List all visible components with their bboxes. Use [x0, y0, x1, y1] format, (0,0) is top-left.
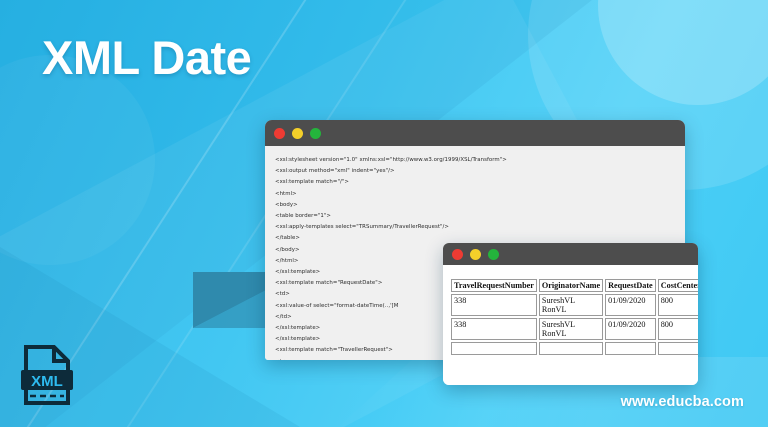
- table-header-row: TravelRequestNumberOriginatorNameRequest…: [451, 279, 698, 292]
- table-cell: SureshVLRonVL: [539, 294, 603, 316]
- xml-file-icon: XML: [18, 344, 76, 406]
- code-window-titlebar[interactable]: [265, 120, 685, 146]
- table-cell: 338: [451, 318, 537, 340]
- table-cell: 800: [658, 318, 698, 340]
- table-column-header: RequestDate: [605, 279, 656, 292]
- table-cell: 01/09/2020: [605, 318, 656, 340]
- code-line: <xsl:template match="/">: [275, 177, 685, 188]
- maximize-icon[interactable]: [488, 249, 499, 260]
- close-icon[interactable]: [274, 128, 285, 139]
- table-body-rows: 338SureshVLRonVL01/09/2020800338SureshVL…: [451, 294, 698, 355]
- table-cell: SureshVLRonVL: [539, 318, 603, 340]
- svg-text:XML: XML: [31, 373, 63, 390]
- page-title: XML Date: [42, 30, 251, 85]
- table-cell-empty: [605, 342, 656, 355]
- output-table-area: TravelRequestNumberOriginatorNameRequest…: [443, 265, 698, 385]
- results-table: TravelRequestNumberOriginatorNameRequest…: [449, 277, 698, 357]
- table-cell-line: SureshVL: [542, 320, 600, 329]
- site-url-label: www.educba.com: [621, 394, 744, 410]
- table-column-header: TravelRequestNumber: [451, 279, 537, 292]
- table-column-header: OriginatorName: [539, 279, 603, 292]
- table-cell-empty: [539, 342, 603, 355]
- minimize-icon[interactable]: [470, 249, 481, 260]
- table-header: TravelRequestNumberOriginatorNameRequest…: [451, 279, 698, 292]
- code-line: <xsl:output method="xml" indent="yes"/>: [275, 166, 685, 177]
- table-cell: 338: [451, 294, 537, 316]
- xslt-output-window[interactable]: TravelRequestNumberOriginatorNameRequest…: [443, 243, 698, 385]
- table-cell-empty: [451, 342, 537, 355]
- table-row-empty: [451, 342, 698, 355]
- code-line: <xsl:stylesheet version="1.0" xmlns:xsl=…: [275, 155, 685, 166]
- xml-file-icon-glyph: XML: [18, 344, 76, 406]
- table-cell-empty: [658, 342, 698, 355]
- table-cell: 01/09/2020: [605, 294, 656, 316]
- minimize-icon[interactable]: [292, 128, 303, 139]
- maximize-icon[interactable]: [310, 128, 321, 139]
- table-row: 338SureshVLRonVL01/09/2020800: [451, 294, 698, 316]
- table-cell: 800: [658, 294, 698, 316]
- close-icon[interactable]: [452, 249, 463, 260]
- table-row: 338SureshVLRonVL01/09/2020800: [451, 318, 698, 340]
- table-cell-line: RonVL: [542, 329, 600, 338]
- table-cell-line: RonVL: [542, 305, 600, 314]
- table-window-titlebar[interactable]: [443, 243, 698, 265]
- table-column-header: CostCenter: [658, 279, 698, 292]
- code-line: <table border="1">: [275, 211, 685, 222]
- table-cell-line: SureshVL: [542, 296, 600, 305]
- code-line: <xsl:apply-templates select="TRSummary/T…: [275, 222, 685, 233]
- code-line: <body>: [275, 200, 685, 211]
- code-line: <html>: [275, 189, 685, 200]
